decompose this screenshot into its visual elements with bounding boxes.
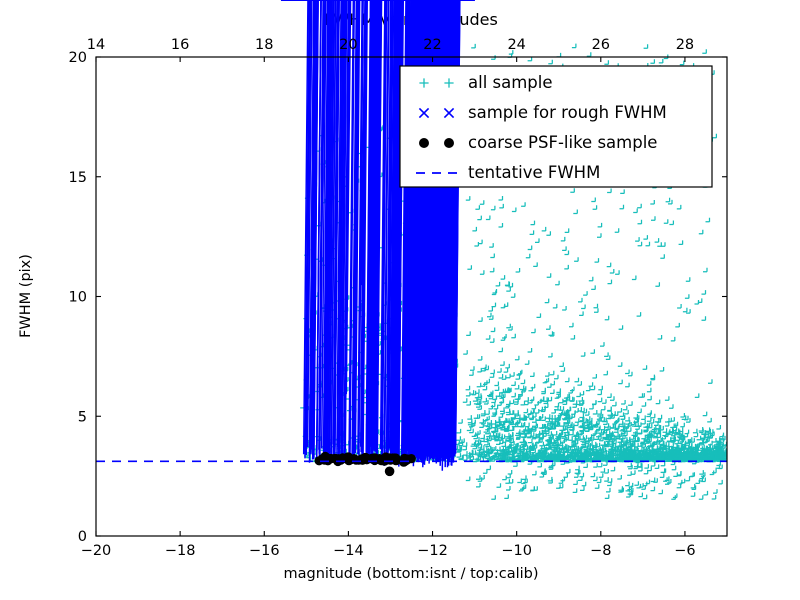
top-axis-tick-label: 26 [592,37,610,53]
x-tick-label: −6 [674,543,695,559]
y-axis-label: FWHM (pix) [18,254,34,338]
top-axis-tick-label: 16 [171,37,189,53]
top-axis-tick-label: 20 [339,37,357,53]
x-tick-label: −14 [333,543,364,559]
top-axis-tick-label: 28 [676,37,694,53]
top-axis-tick-label: 14 [87,37,105,53]
top-axis-tick-label: 18 [255,37,273,53]
legend-label: tentative FWHM [468,163,600,182]
legend-label: coarse PSF-like sample [468,133,657,152]
legend-label: all sample [468,73,553,92]
chart-legend: all samplesample for rough FWHMcoarse PS… [400,66,712,187]
y-tick-label: 5 [78,409,87,425]
x-tick-label: −20 [81,543,112,559]
x-tick-label: −16 [249,543,280,559]
x-tick-label: −10 [501,543,532,559]
y-tick-label: 0 [78,529,87,545]
y-tick-label: 15 [69,170,87,186]
matplotlib-figure: FWHM vs magnitudes −20−18−16−14−12−10−8−… [0,0,800,600]
x-axis-label: magnitude (bottom:isnt / top:calib) [283,566,538,582]
x-tick-label: −8 [590,543,611,559]
x-tick-label: −12 [417,543,448,559]
fwhm-vs-magnitude-scatter-plot: FWHM vs magnitudes −20−18−16−14−12−10−8−… [0,0,800,600]
y-tick-label: 10 [69,290,87,306]
legend-label: sample for rough FWHM [468,103,667,122]
top-axis-tick-label: 24 [507,37,525,53]
y-tick-label: 20 [69,50,87,66]
x-tick-label: −18 [165,543,196,559]
top-axis-tick-label: 22 [423,37,441,53]
